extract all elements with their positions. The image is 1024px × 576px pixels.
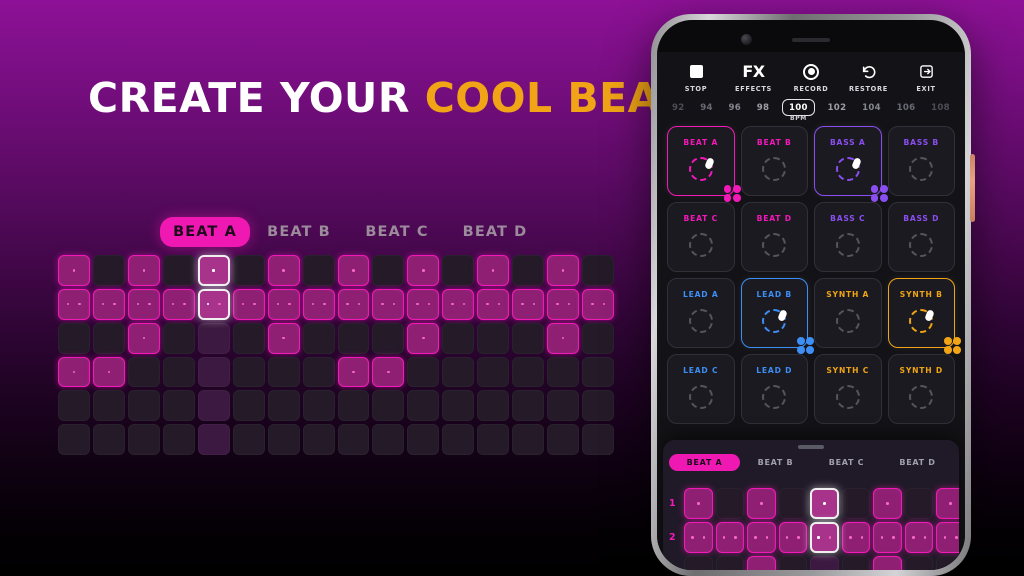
cell-dots-icon (339, 256, 369, 285)
sequencer-cell[interactable] (779, 522, 808, 553)
cell-dots-icon (408, 290, 438, 319)
step-sequencer-grid-phone[interactable]: 123456 (669, 488, 959, 570)
cell-dots-icon (478, 290, 508, 319)
sequencer-cell[interactable] (338, 255, 370, 286)
sequencer-cell[interactable] (407, 357, 439, 388)
pad-knob-dial[interactable] (762, 309, 786, 333)
record-circle-icon (803, 61, 819, 82)
sequencer-cell[interactable] (407, 289, 439, 320)
sequencer-cell[interactable] (198, 289, 230, 320)
sequencer-cell[interactable] (477, 323, 509, 354)
tab-beat-b[interactable]: BEAT B (250, 218, 348, 246)
cell-dots-icon (443, 290, 473, 319)
bpm-option[interactable]: 102 (825, 101, 850, 115)
sequencer-cell[interactable] (477, 390, 509, 421)
sequencer-cell[interactable] (779, 488, 808, 519)
cell-dots-icon (129, 290, 159, 319)
sequencer-cell[interactable] (163, 390, 195, 421)
pad-synth-b[interactable]: SYNTH B (888, 278, 956, 348)
sequencer-cell[interactable] (442, 323, 474, 354)
sequencer-cell[interactable] (268, 323, 300, 354)
cell-dots-icon (129, 256, 159, 285)
sequencer-cell[interactable] (372, 424, 404, 455)
pad-label: BASS B (904, 138, 940, 147)
sequencer-cell[interactable] (512, 289, 544, 320)
sequencer-cell[interactable] (547, 390, 579, 421)
sequencer-cell[interactable] (684, 488, 713, 519)
sequencer-cell[interactable] (372, 323, 404, 354)
phone-mockup: STOPFXEFFECTSRECORDRESTOREEXIT 929496981… (651, 14, 971, 576)
sequencer-cell[interactable] (582, 424, 614, 455)
pad-bass-c[interactable]: BASS C (814, 202, 882, 272)
sequencer-cell[interactable] (442, 357, 474, 388)
sequencer-cell[interactable] (128, 390, 160, 421)
exit-arrow-icon (919, 61, 934, 82)
cell-dots-icon (780, 523, 807, 552)
app-screen: STOPFXEFFECTSRECORDRESTOREEXIT 929496981… (657, 52, 965, 570)
cell-dots-icon (748, 523, 775, 552)
power-button[interactable] (970, 154, 975, 222)
pad-knob-dial[interactable] (909, 309, 933, 333)
phone-screen-frame: STOPFXEFFECTSRECORDRESTOREEXIT 929496981… (657, 20, 965, 570)
sequencer-cell[interactable] (268, 357, 300, 388)
sequencer-cell[interactable] (716, 556, 745, 570)
sequencer-cell[interactable] (716, 522, 745, 553)
cell-dots-icon (59, 358, 89, 387)
sequencer-cell[interactable] (198, 390, 230, 421)
cell-dots-icon (583, 290, 613, 319)
cell-dots-icon (548, 324, 578, 353)
sequencer-cell[interactable] (372, 390, 404, 421)
sequencer-cell[interactable] (512, 357, 544, 388)
pad-knob-dial[interactable] (836, 309, 860, 333)
pad-beat-c[interactable]: BEAT C (667, 202, 735, 272)
sequencer-cell[interactable] (873, 556, 902, 570)
cell-dots-icon (200, 257, 228, 284)
sequencer-cell[interactable] (582, 357, 614, 388)
sequencer-cell[interactable] (407, 390, 439, 421)
pad-knob-dial[interactable] (689, 385, 713, 409)
bpm-option[interactable]: 96 (726, 101, 745, 115)
cell-dots-icon (200, 291, 228, 318)
sequencer-cell[interactable] (233, 289, 265, 320)
pad-knob-dial[interactable] (836, 385, 860, 409)
pad-knob-dial[interactable] (689, 157, 713, 181)
cell-dots-icon (94, 290, 124, 319)
app-toolbar: STOPFXEFFECTSRECORDRESTOREEXIT (657, 52, 965, 93)
sequencer-cell[interactable] (128, 357, 160, 388)
cell-dots-icon (513, 290, 543, 319)
stop-button[interactable]: STOP (671, 61, 721, 93)
sequencer-cell[interactable] (512, 255, 544, 286)
cell-dots-icon (548, 290, 578, 319)
bpm-option[interactable]: 106 (894, 101, 919, 115)
sequencer-cell[interactable] (128, 323, 160, 354)
sequencer-cell[interactable] (163, 323, 195, 354)
sequencer-cell[interactable] (163, 424, 195, 455)
pad-active-badge-icon (871, 185, 888, 202)
sequencer-cell[interactable] (93, 255, 125, 286)
drawer-tab-beat-a[interactable]: BEAT A (669, 454, 740, 471)
sequencer-cell[interactable] (842, 556, 871, 570)
cell-dots-icon (373, 290, 403, 319)
sequencer-cell[interactable] (233, 390, 265, 421)
pad-knob-dial[interactable] (836, 157, 860, 181)
sequencer-cell[interactable] (873, 522, 902, 553)
cell-dots-icon (937, 523, 959, 552)
exit-button[interactable]: EXIT (901, 61, 951, 93)
sequencer-cell[interactable] (477, 289, 509, 320)
pad-knob-dial[interactable] (689, 309, 713, 333)
cell-dots-icon (129, 324, 159, 353)
sequencer-cell[interactable] (810, 488, 839, 519)
sequencer-cell[interactable] (128, 255, 160, 286)
sequencer-cell[interactable] (372, 289, 404, 320)
cell-dots-icon (548, 256, 578, 285)
bpm-option[interactable]: 98 (754, 101, 773, 115)
pad-label: SYNTH C (826, 366, 869, 375)
cell-dots-icon (874, 489, 901, 518)
cell-dots-icon (94, 358, 124, 387)
sequencer-cell[interactable] (873, 488, 902, 519)
sequencer-cell[interactable] (547, 289, 579, 320)
sequencer-cell[interactable] (303, 323, 335, 354)
sequencer-cell[interactable] (268, 289, 300, 320)
cell-dots-icon (937, 489, 959, 518)
toolbar-item-label: RECORD (794, 85, 829, 93)
beat-tabs-left: BEAT ABEAT BBEAT CBEAT D (160, 217, 544, 247)
sequencer-cell[interactable] (905, 488, 934, 519)
sequencer-cell[interactable] (372, 357, 404, 388)
pad-label: LEAD D (756, 366, 792, 375)
toolbar-item-label: EFFECTS (735, 85, 772, 93)
cell-dots-icon (685, 489, 712, 518)
bpm-option[interactable]: 108 (928, 101, 953, 115)
sequencer-cell[interactable] (303, 424, 335, 455)
bpm-option-selected[interactable]: 100BPM (782, 99, 815, 116)
sequencer-cell[interactable] (684, 556, 713, 570)
bpm-caption: BPM (783, 115, 814, 122)
sequencer-cell[interactable] (198, 323, 230, 354)
pad-label: BASS A (830, 138, 866, 147)
sequencer-cell[interactable] (810, 522, 839, 553)
pad-lead-d[interactable]: LEAD D (741, 354, 809, 424)
pad-label: SYNTH A (826, 290, 869, 299)
cell-dots-icon (164, 290, 194, 319)
pad-lead-c[interactable]: LEAD C (667, 354, 735, 424)
drawer-tab-beat-b[interactable]: BEAT B (740, 454, 811, 471)
pad-active-badge-icon (797, 337, 814, 354)
sequencer-cell[interactable] (936, 488, 959, 519)
sequencer-cell[interactable] (442, 390, 474, 421)
pad-knob-dial[interactable] (762, 157, 786, 181)
sequencer-cell[interactable] (442, 255, 474, 286)
pad-beat-b[interactable]: BEAT B (741, 126, 809, 196)
sequencer-cell[interactable] (58, 357, 90, 388)
row-number: 1 (669, 488, 681, 519)
sequencer-cell[interactable] (936, 522, 959, 553)
sequencer-cell[interactable] (338, 390, 370, 421)
pad-knob-dial[interactable] (762, 385, 786, 409)
toolbar-item-label: EXIT (916, 85, 935, 93)
sequencer-cell[interactable] (338, 289, 370, 320)
cell-dots-icon (59, 256, 89, 285)
restore-button[interactable]: RESTORE (844, 61, 894, 93)
sequencer-cell[interactable] (477, 255, 509, 286)
page-title: CREATE YOUR COOL BEATS (88, 74, 715, 122)
sequencer-cell[interactable] (163, 357, 195, 388)
cell-dots-icon (408, 324, 438, 353)
sequencer-cell[interactable] (747, 556, 776, 570)
sequencer-cell[interactable] (547, 424, 579, 455)
pad-label: BEAT B (757, 138, 792, 147)
sequencer-cell[interactable] (303, 289, 335, 320)
sequencer-cell[interactable] (233, 255, 265, 286)
toolbar-item-label: STOP (685, 85, 708, 93)
pad-label: LEAD B (757, 290, 792, 299)
cell-dots-icon (269, 290, 299, 319)
cell-dots-icon (304, 290, 334, 319)
sequencer-cell[interactable] (58, 390, 90, 421)
sequencer-cell[interactable] (512, 390, 544, 421)
cell-dots-icon (234, 290, 264, 319)
cell-dots-icon (748, 557, 775, 570)
pad-label: BASS D (903, 214, 939, 223)
pad-active-badge-icon (944, 337, 961, 354)
pad-synth-c[interactable]: SYNTH C (814, 354, 882, 424)
sequencer-cell[interactable] (198, 255, 230, 286)
cell-dots-icon (478, 256, 508, 285)
sequencer-cell[interactable] (512, 323, 544, 354)
sequencer-cell[interactable] (303, 390, 335, 421)
beat-tabs-phone: BEAT ABEAT BBEAT CBEAT D (663, 449, 959, 471)
sequencer-cell[interactable] (842, 488, 871, 519)
pad-label: BASS C (830, 214, 865, 223)
cell-dots-icon (748, 489, 775, 518)
earpiece-speaker (792, 38, 830, 42)
pad-knob-dial[interactable] (689, 233, 713, 257)
cell-dots-icon (269, 256, 299, 285)
sequencer-cell[interactable] (582, 255, 614, 286)
cell-dots-icon (812, 490, 837, 517)
tab-beat-c[interactable]: BEAT C (348, 218, 446, 246)
pad-active-badge-icon (724, 185, 741, 202)
pad-label: SYNTH B (900, 290, 943, 299)
record-button[interactable]: RECORD (786, 61, 836, 93)
sequencer-cell[interactable] (407, 323, 439, 354)
toolbar-item-label: RESTORE (849, 85, 888, 93)
sequencer-cell[interactable] (233, 424, 265, 455)
pad-label: SYNTH D (900, 366, 943, 375)
bpm-selector[interactable]: 92949698100BPM102104106108 (657, 93, 965, 116)
effects-button[interactable]: FXEFFECTS (729, 61, 779, 93)
cell-dots-icon (408, 256, 438, 285)
sequencer-cell[interactable] (93, 390, 125, 421)
bpm-option[interactable]: 94 (697, 101, 716, 115)
cell-dots-icon (373, 358, 403, 387)
sequencer-cell[interactable] (747, 522, 776, 553)
sequencer-cell[interactable] (233, 357, 265, 388)
pad-beat-d[interactable]: BEAT D (741, 202, 809, 272)
sequencer-cell[interactable] (268, 424, 300, 455)
pad-bass-a[interactable]: BASS A (814, 126, 882, 196)
stop-square-icon (690, 61, 703, 82)
sequencer-cell[interactable] (198, 357, 230, 388)
sequencer-cell[interactable] (442, 424, 474, 455)
sequencer-cell[interactable] (547, 323, 579, 354)
sequencer-cell[interactable] (338, 357, 370, 388)
fx-text-icon: FX (742, 61, 764, 82)
sequencer-cell[interactable] (582, 390, 614, 421)
sequencer-cell[interactable] (779, 556, 808, 570)
pad-knob-dial[interactable] (762, 233, 786, 257)
sequencer-cell[interactable] (905, 522, 934, 553)
front-camera-icon (741, 34, 752, 45)
sequencer-cell[interactable] (93, 357, 125, 388)
sequencer-cell[interactable] (233, 323, 265, 354)
step-sequencer-grid-large[interactable] (58, 255, 614, 455)
pad-label: BEAT A (683, 138, 718, 147)
sequencer-cell[interactable] (338, 424, 370, 455)
row-number: 3 (669, 556, 681, 570)
drawer-tab-beat-d[interactable]: BEAT D (882, 454, 953, 471)
sequencer-cell[interactable] (163, 289, 195, 320)
sequencer-cell[interactable] (372, 255, 404, 286)
pad-synth-d[interactable]: SYNTH D (888, 354, 956, 424)
sequencer-cell[interactable] (407, 424, 439, 455)
bpm-option[interactable]: 104 (859, 101, 884, 115)
sequencer-cell[interactable] (303, 255, 335, 286)
pad-label: BEAT C (684, 214, 718, 223)
sequencer-cell[interactable] (268, 255, 300, 286)
tab-beat-d[interactable]: BEAT D (446, 218, 544, 246)
pad-knob-dial[interactable] (909, 157, 933, 181)
sequencer-cell[interactable] (93, 289, 125, 320)
tab-beat-a[interactable]: BEAT A (160, 217, 250, 247)
sequencer-cell[interactable] (547, 255, 579, 286)
page-title-white: CREATE YOUR (88, 74, 410, 122)
sequencer-cell[interactable] (128, 424, 160, 455)
sequencer-cell[interactable] (936, 556, 959, 570)
sequencer-cell[interactable] (810, 556, 839, 570)
sequencer-cell[interactable] (716, 488, 745, 519)
sequencer-cell[interactable] (442, 289, 474, 320)
sequencer-cell[interactable] (93, 323, 125, 354)
cell-dots-icon (874, 523, 901, 552)
pad-synth-a[interactable]: SYNTH A (814, 278, 882, 348)
cell-dots-icon (339, 290, 369, 319)
cell-dots-icon (269, 324, 299, 353)
sequencer-cell[interactable] (512, 424, 544, 455)
pad-beat-a[interactable]: BEAT A (667, 126, 735, 196)
pad-lead-a[interactable]: LEAD A (667, 278, 735, 348)
cell-dots-icon (906, 523, 933, 552)
sequencer-cell[interactable] (268, 390, 300, 421)
sequencer-cell[interactable] (905, 556, 934, 570)
cell-dots-icon (843, 523, 870, 552)
instrument-pad-grid[interactable]: BEAT ABEAT BBASS ABASS BBEAT CBEAT DBASS… (657, 116, 965, 424)
sequencer-cell[interactable] (58, 289, 90, 320)
sequencer-cell[interactable] (477, 357, 509, 388)
undo-arrow-icon (861, 61, 877, 82)
bpm-option[interactable]: 92 (669, 101, 688, 115)
sequencer-cell[interactable] (547, 357, 579, 388)
sequencer-cell[interactable] (128, 289, 160, 320)
pad-knob-dial[interactable] (909, 233, 933, 257)
sequencer-cell[interactable] (58, 255, 90, 286)
sequencer-cell[interactable] (407, 255, 439, 286)
cell-dots-icon (685, 523, 712, 552)
sequencer-cell[interactable] (303, 357, 335, 388)
drawer-tab-beat-c[interactable]: BEAT C (811, 454, 882, 471)
pattern-drawer: BEAT ABEAT BBEAT CBEAT D 123456 (663, 440, 959, 570)
pad-lead-b[interactable]: LEAD B (741, 278, 809, 348)
sequencer-cell[interactable] (477, 424, 509, 455)
sequencer-cell[interactable] (93, 424, 125, 455)
pad-knob-dial[interactable] (909, 385, 933, 409)
sequencer-cell[interactable] (582, 323, 614, 354)
sequencer-cell[interactable] (58, 424, 90, 455)
cell-dots-icon (59, 290, 89, 319)
cell-dots-icon (717, 523, 744, 552)
sequencer-cell[interactable] (842, 522, 871, 553)
pad-label: LEAD A (683, 290, 719, 299)
pad-bass-b[interactable]: BASS B (888, 126, 956, 196)
sequencer-cell[interactable] (198, 424, 230, 455)
sequencer-cell[interactable] (747, 488, 776, 519)
pad-label: LEAD C (683, 366, 718, 375)
sequencer-cell[interactable] (163, 255, 195, 286)
cell-dots-icon (812, 524, 837, 551)
sequencer-cell[interactable] (582, 289, 614, 320)
pad-label: BEAT D (757, 214, 792, 223)
row-number: 2 (669, 522, 681, 553)
sequencer-cell[interactable] (684, 522, 713, 553)
sequencer-cell[interactable] (338, 323, 370, 354)
cell-dots-icon (874, 557, 901, 570)
sequencer-cell[interactable] (58, 323, 90, 354)
cell-dots-icon (339, 358, 369, 387)
pad-bass-d[interactable]: BASS D (888, 202, 956, 272)
pad-knob-dial[interactable] (836, 233, 860, 257)
